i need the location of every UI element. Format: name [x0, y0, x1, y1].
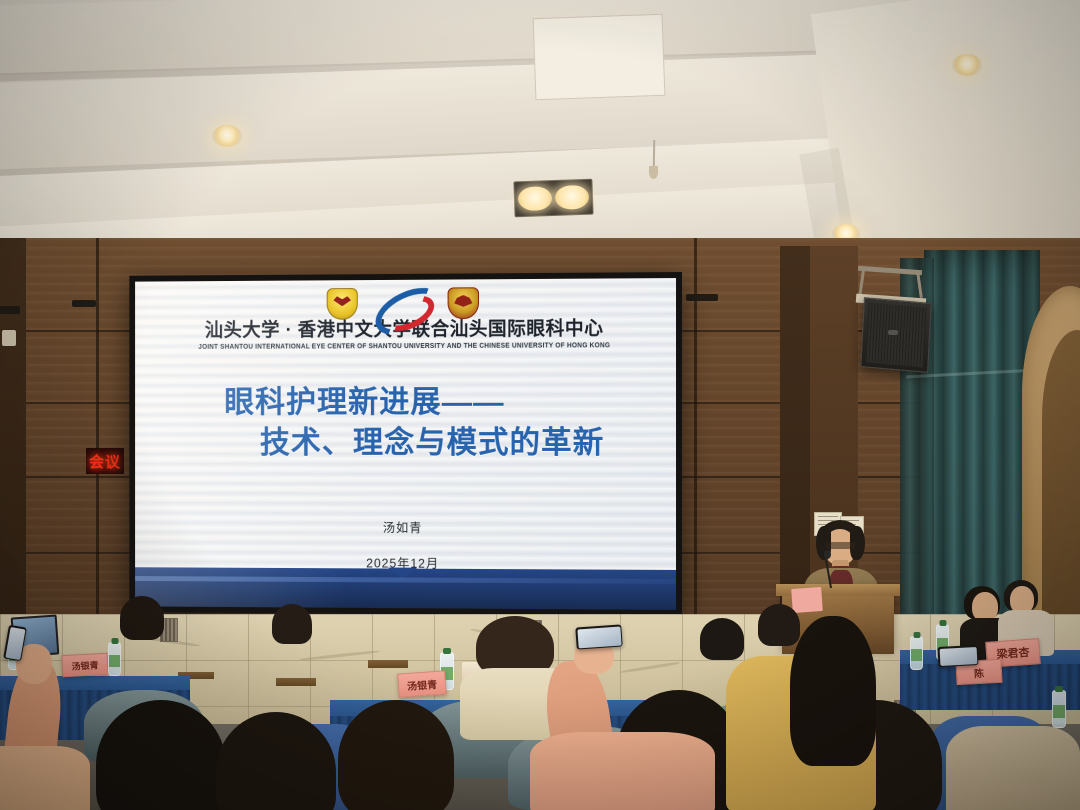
- slide-title-block: 眼科护理新进展—— 技术、理念与模式的革新: [135, 382, 676, 464]
- ceiling-twin-spotlight: [513, 179, 593, 218]
- name-card-text: 陈: [974, 664, 985, 680]
- attendee-head-distant: [758, 604, 800, 646]
- slide-header-english: JOINT SHANTOU INTERNATIONAL EYE CENTER O…: [135, 341, 676, 351]
- microphone-head: [824, 550, 831, 559]
- ceiling-loudspeaker: [860, 297, 931, 373]
- ceiling: [0, 0, 1080, 272]
- wall-socket: [2, 330, 16, 346]
- wall-vertical-seam: [694, 238, 697, 658]
- ceiling-access-panel: [533, 14, 666, 100]
- attendee-shoulder: [0, 746, 90, 810]
- attendee-hair-long: [790, 616, 876, 766]
- slide-presenter-name: 汤如青: [135, 516, 676, 537]
- ceiling-downlight: [212, 125, 242, 147]
- wall-sensor-plate: [72, 300, 96, 307]
- attendee-head-distant: [120, 596, 164, 640]
- led-marquee-sign: 会议: [86, 448, 124, 474]
- slide-footer-highlight: [135, 576, 676, 584]
- cuhk-crest-logo: [448, 287, 479, 319]
- wall-sensor-plate: [0, 306, 20, 314]
- led-projection-wall[interactable]: 汕头大学 · 香港中文大学联合汕头国际眼科中心 JOINT SHANTOU IN…: [129, 272, 682, 616]
- joint-eye-center-eye-swirl-logo: [373, 292, 432, 320]
- name-card-text: 汤银青: [407, 675, 438, 692]
- slide-title-line2: 技术、理念与模式的革新: [135, 423, 676, 464]
- led-sign-text: 会议: [89, 451, 121, 472]
- attendee-torso: [946, 726, 1080, 810]
- shantou-university-crest-logo: [327, 288, 358, 320]
- slide-header: 汕头大学 · 香港中文大学联合汕头国际眼科中心 JOINT SHANTOU IN…: [135, 284, 676, 351]
- attendee-peach-sweater: [530, 732, 715, 810]
- attendee-head-distant: [700, 618, 744, 660]
- water-bottle: [910, 636, 923, 670]
- speaker-logo: [888, 330, 898, 335]
- smartphone[interactable]: [575, 624, 622, 649]
- slide-footer-band: [135, 567, 676, 610]
- slide-logo-row: [135, 284, 676, 321]
- wall-left-dark-panel: [0, 238, 26, 658]
- presenter-glasses: [825, 542, 855, 549]
- attendee-head-foreground: [338, 700, 454, 810]
- conference-hall-photo: 会议 汕头大学 · 香港中文大学联合汕头国际眼科中心 JOINT SHANTOU…: [0, 0, 1080, 810]
- presentation-slide: 汕头大学 · 香港中文大学联合汕头国际眼科中心 JOINT SHANTOU IN…: [135, 278, 676, 610]
- lectern-notes: [791, 587, 823, 613]
- slide-title-line1: 眼科护理新进展——: [135, 382, 676, 423]
- attendee-far-right: [946, 686, 1080, 810]
- marble-accent-strip: [276, 678, 316, 686]
- attendee-photographing: [540, 636, 730, 810]
- ceiling-downlight: [952, 54, 982, 76]
- attendee-head-distant: [272, 604, 312, 644]
- wall-sensor-plate: [686, 294, 718, 301]
- ceiling-sprinkler: [649, 166, 658, 179]
- slide-presenter-block: 汤如青 2025年12月: [135, 516, 676, 573]
- marble-accent-strip: [368, 660, 408, 668]
- smartphone[interactable]: [938, 645, 979, 667]
- name-card: 汤银青: [397, 670, 447, 697]
